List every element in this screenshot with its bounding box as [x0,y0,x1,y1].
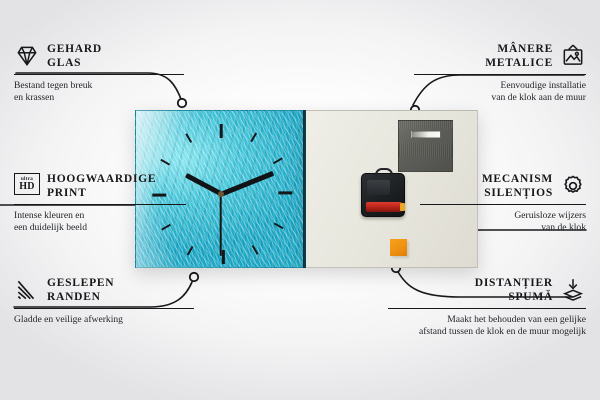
callout-subtitle: Geruisloze wijzers van de klok [420,210,586,233]
callout-header: GEHARD GLAS [14,42,184,70]
metal-hanger-plate [398,120,453,172]
callout-title: GEHARD GLAS [47,42,102,70]
clock-tick [187,246,194,256]
clock-tick [220,124,223,138]
hour-hand [185,173,223,196]
callout-subtitle: Maakt het behouden van een gelijke afsta… [388,314,586,337]
clock-mechanism-box [361,173,405,217]
callout-mecanism-silentios: MECANISM SILENȚIOS Geruisloze wijzers va… [420,172,586,233]
callout-subtitle: Eenvoudige installatie van de klok aan d… [414,80,586,103]
spacer-down-arrow-icon [560,277,586,303]
clock-tick [160,159,170,166]
clock-tick [273,157,283,164]
callout-header: DISTANȚIER SPUMĂ [388,276,586,304]
clock-center-cap [218,191,224,197]
callout-header: ultra HD HOOGWAARDIGE PRINT [14,172,186,200]
ultra-hd-icon-bottom-label: HD [19,182,35,192]
mechanism-face-plate [367,180,390,195]
callout-rule [14,204,186,205]
callout-title: DISTANȚIER SPUMĂ [475,276,553,304]
hanger-slot [411,131,441,138]
callout-title: HOOGWAARDIGE PRINT [47,172,156,200]
clock-tick [274,222,284,229]
clock-tick [250,132,257,142]
callout-rule [414,74,586,75]
callout-rule [14,74,184,75]
infographic-canvas: GEHARD GLAS Bestand tegen breuk en krass… [0,0,600,400]
callout-subtitle: Bestand tegen breuk en krassen [14,80,184,103]
bevelled-edges-icon [14,277,40,303]
panel-seam [303,110,306,268]
wall-hanger-frame-icon [560,43,586,69]
callout-geslepen-randen: GESLEPEN RANDEN Gladde en veilige afwerk… [14,276,194,326]
clock-tick [278,191,292,194]
callout-header: MECANISM SILENȚIOS [420,172,586,200]
foam-spacer [390,239,407,256]
callout-rule [420,204,586,205]
clock-tick [252,245,259,255]
callout-subtitle: Gladde en veilige afwerking [14,314,194,326]
callout-title: MECANISM SILENȚIOS [482,172,553,200]
gear-icon [560,173,586,199]
callout-manere-metalice: MÂNERE METALICE Eenvoudige installatie v… [414,42,586,103]
callout-title: GESLEPEN RANDEN [47,276,114,304]
callout-rule [14,308,194,309]
clock-tick [185,133,192,143]
aa-battery [366,202,402,212]
callout-rule [388,308,586,309]
mechanism-hanging-loop [375,168,393,177]
callout-hoogwaardige-print: ultra HD HOOGWAARDIGE PRINT Intense kleu… [14,172,186,233]
minute-hand [220,171,274,196]
diamond-icon [14,43,40,69]
callout-gehard-glas: GEHARD GLAS Bestand tegen breuk en krass… [14,42,184,103]
ultra-hd-icon: ultra HD [14,173,40,199]
callout-header: GESLEPEN RANDEN [14,276,194,304]
clock-tick [222,250,225,264]
callout-subtitle: Intense kleuren en een duidelijk beeld [14,210,186,233]
second-hand [220,194,222,256]
callout-distantier-spuma: DISTANȚIER SPUMĂ Maakt het behouden van … [388,276,586,337]
battery-positive-cap [400,203,405,211]
callout-title: MÂNERE METALICE [485,42,553,70]
callout-header: MÂNERE METALICE [414,42,586,70]
